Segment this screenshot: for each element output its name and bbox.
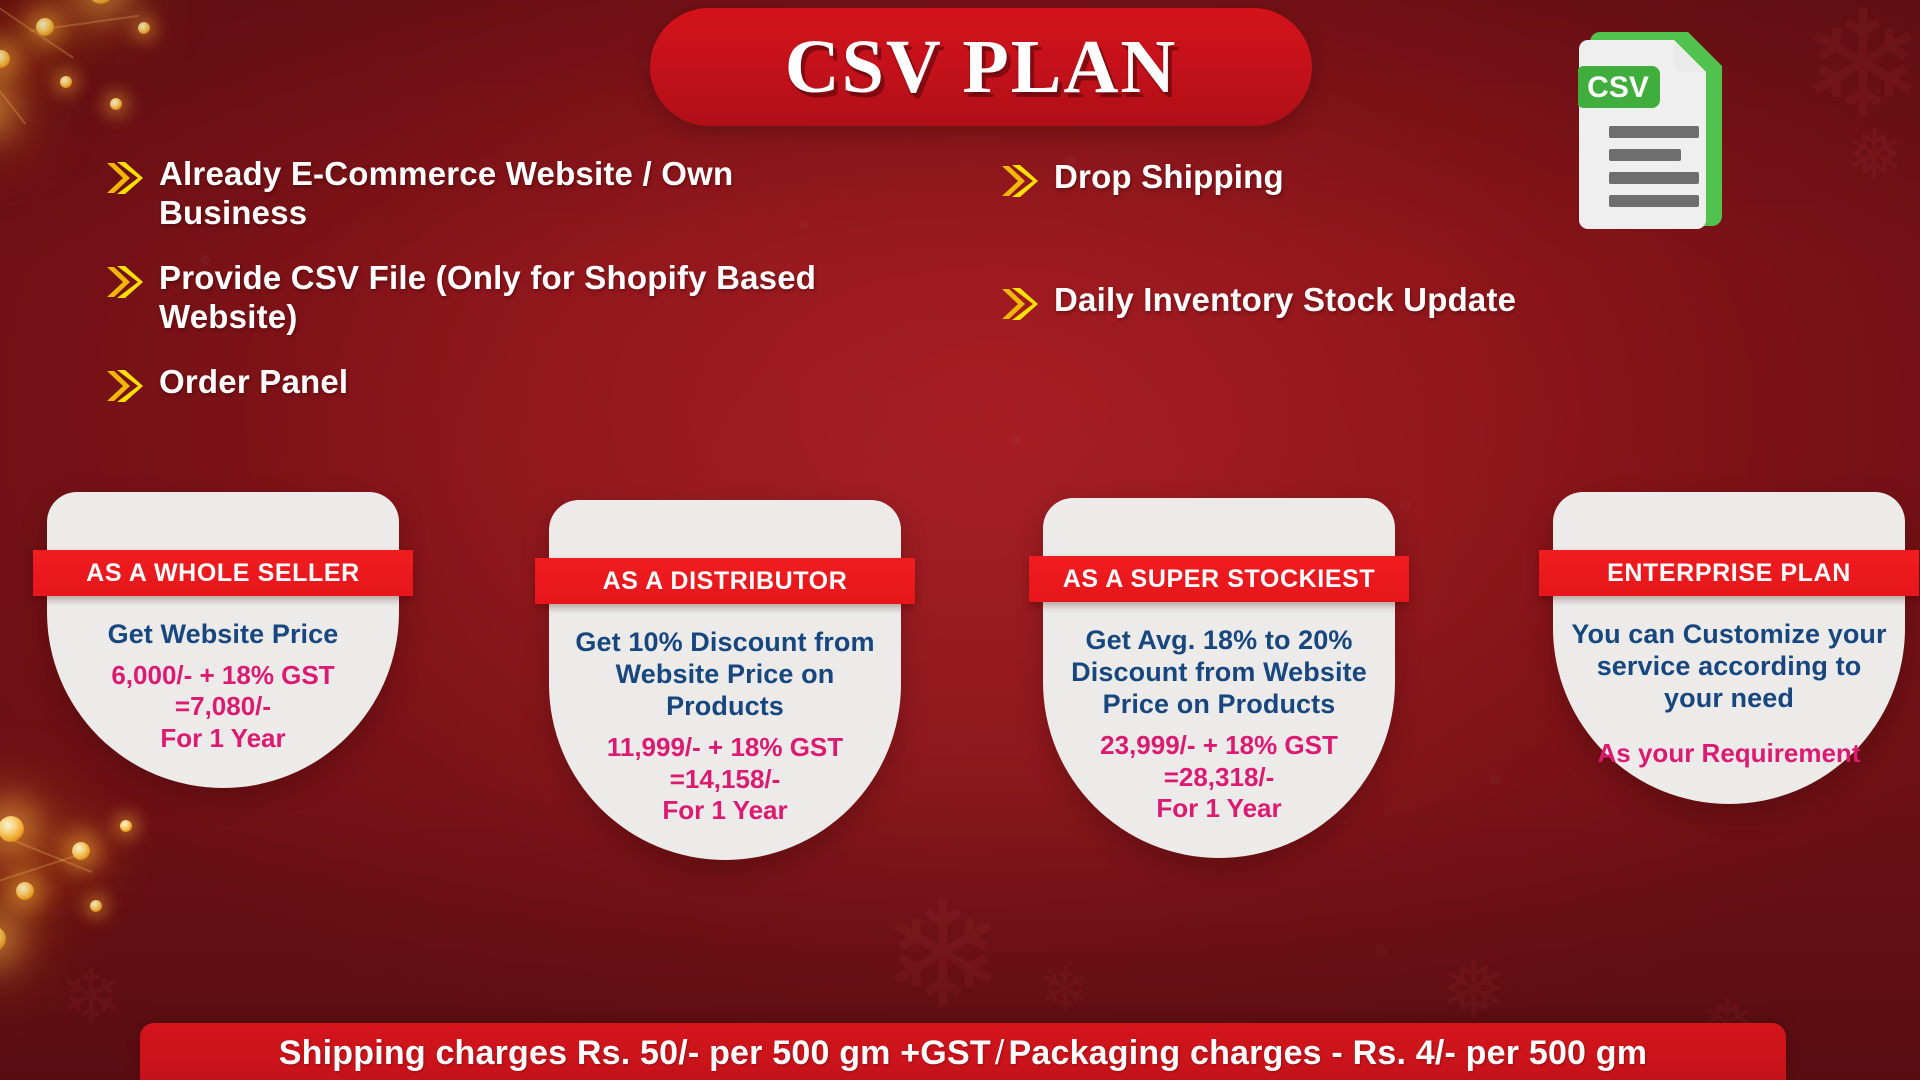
plan-card-super-stockiest[interactable]: AS A SUPER STOCKIEST Get Avg. 18% to 20%… <box>1043 498 1395 858</box>
plan-heading: Get Avg. 18% to 20% Discount from Websit… <box>1061 624 1377 720</box>
poster-canvas: ❄ ❅ ❄ ❅ ❄ ❅ ❄ CSV PLAN <box>0 0 1920 1080</box>
plan-heading: Get Website Price <box>65 618 381 650</box>
plan-card-enterprise[interactable]: ENTERPRISE PLAN You can Customize your s… <box>1553 492 1905 804</box>
plan-price-line: 23,999/- + 18% GST <box>1061 730 1377 761</box>
plan-price: 6,000/- + 18% GST =7,080/- For 1 Year <box>65 660 381 754</box>
plan-price-line: For 1 Year <box>65 723 381 754</box>
plan-ribbon: AS A WHOLE SELLER <box>33 550 413 596</box>
chevron-right-icon <box>105 161 145 200</box>
snowflake-decoration: ❅ <box>1845 120 1904 190</box>
card-top-cap <box>1553 492 1905 550</box>
plan-price: 23,999/- + 18% GST =28,318/- For 1 Year <box>1061 730 1377 824</box>
plan-card-distributor[interactable]: AS A DISTRIBUTOR Get 10% Discount from W… <box>549 500 901 860</box>
card-top-cap <box>549 500 901 558</box>
plan-card-body: Get Website Price 6,000/- + 18% GST =7,0… <box>47 596 399 788</box>
plan-card-group: AS A WHOLE SELLER Get Website Price 6,00… <box>0 492 1920 972</box>
page-title-banner: CSV PLAN <box>650 8 1312 126</box>
plan-card-whole-seller[interactable]: AS A WHOLE SELLER Get Website Price 6,00… <box>47 492 399 788</box>
feature-label: Order Panel <box>159 363 348 402</box>
csv-icon-label: CSV <box>1587 71 1649 104</box>
plan-ribbon-label: AS A DISTRIBUTOR <box>603 567 848 596</box>
packaging-charges-text: Packaging charges - Rs. 4/- per 500 gm <box>1008 1034 1647 1072</box>
plan-card-body: You can Customize your service according… <box>1553 596 1905 804</box>
shipping-charges-text: Shipping charges Rs. 50/- per 500 gm +GS… <box>279 1034 991 1072</box>
feature-label: Provide CSV File (Only for Shopify Based… <box>159 259 865 337</box>
fairy-lights-top-left <box>0 0 230 180</box>
plan-price-line: 6,000/- + 18% GST <box>65 660 381 691</box>
feature-item: Order Panel <box>105 363 865 408</box>
card-top-cap <box>1043 498 1395 556</box>
feature-label: Daily Inventory Stock Update <box>1054 281 1516 320</box>
chevron-right-icon <box>1000 287 1040 326</box>
plan-ribbon: ENTERPRISE PLAN <box>1539 550 1919 596</box>
feature-label: Drop Shipping <box>1054 158 1284 197</box>
chevron-right-icon <box>105 265 145 304</box>
feature-list-right: Drop Shipping Daily Inventory Stock Upda… <box>1000 158 1720 404</box>
plan-price-line: =14,158/- <box>567 764 883 795</box>
plan-price-line: =28,318/- <box>1061 762 1377 793</box>
feature-label: Already E-Commerce Website / Own Busines… <box>159 155 865 233</box>
plan-note: As your Requirement <box>1571 738 1887 769</box>
feature-list-left: Already E-Commerce Website / Own Busines… <box>105 155 865 434</box>
plan-price-line: For 1 Year <box>1061 793 1377 824</box>
feature-item: Daily Inventory Stock Update <box>1000 281 1720 326</box>
plan-card-body: Get Avg. 18% to 20% Discount from Websit… <box>1043 602 1395 858</box>
plan-ribbon: AS A SUPER STOCKIEST <box>1029 556 1409 602</box>
plan-ribbon: AS A DISTRIBUTOR <box>535 558 915 604</box>
plan-price-line: For 1 Year <box>567 795 883 826</box>
footer-charges-banner: Shipping charges Rs. 50/- per 500 gm +GS… <box>140 1023 1786 1080</box>
feature-item: Drop Shipping <box>1000 158 1720 203</box>
feature-item: Already E-Commerce Website / Own Busines… <box>105 155 865 233</box>
plan-ribbon-label: ENTERPRISE PLAN <box>1607 559 1851 588</box>
snowflake-decoration: ❄ <box>1800 0 1920 140</box>
plan-price: 11,999/- + 18% GST =14,158/- For 1 Year <box>567 732 883 826</box>
footer-text: Shipping charges Rs. 50/- per 500 gm +GS… <box>279 1034 1647 1073</box>
plan-heading: You can Customize your service according… <box>1571 618 1887 714</box>
plan-ribbon-label: AS A WHOLE SELLER <box>86 559 360 588</box>
plan-card-body: Get 10% Discount from Website Price on P… <box>549 604 901 860</box>
plan-heading: Get 10% Discount from Website Price on P… <box>567 626 883 722</box>
plan-price-line: =7,080/- <box>65 691 381 722</box>
chevron-right-icon <box>1000 164 1040 203</box>
bokeh-dot <box>1010 435 1020 445</box>
feature-item: Provide CSV File (Only for Shopify Based… <box>105 259 865 337</box>
page-title: CSV PLAN <box>785 24 1178 111</box>
card-top-cap <box>47 492 399 550</box>
plan-price-line: 11,999/- + 18% GST <box>567 732 883 763</box>
chevron-right-icon <box>105 369 145 408</box>
footer-separator: / <box>995 1034 1005 1073</box>
plan-ribbon-label: AS A SUPER STOCKIEST <box>1063 565 1376 594</box>
bokeh-dot <box>640 60 648 68</box>
